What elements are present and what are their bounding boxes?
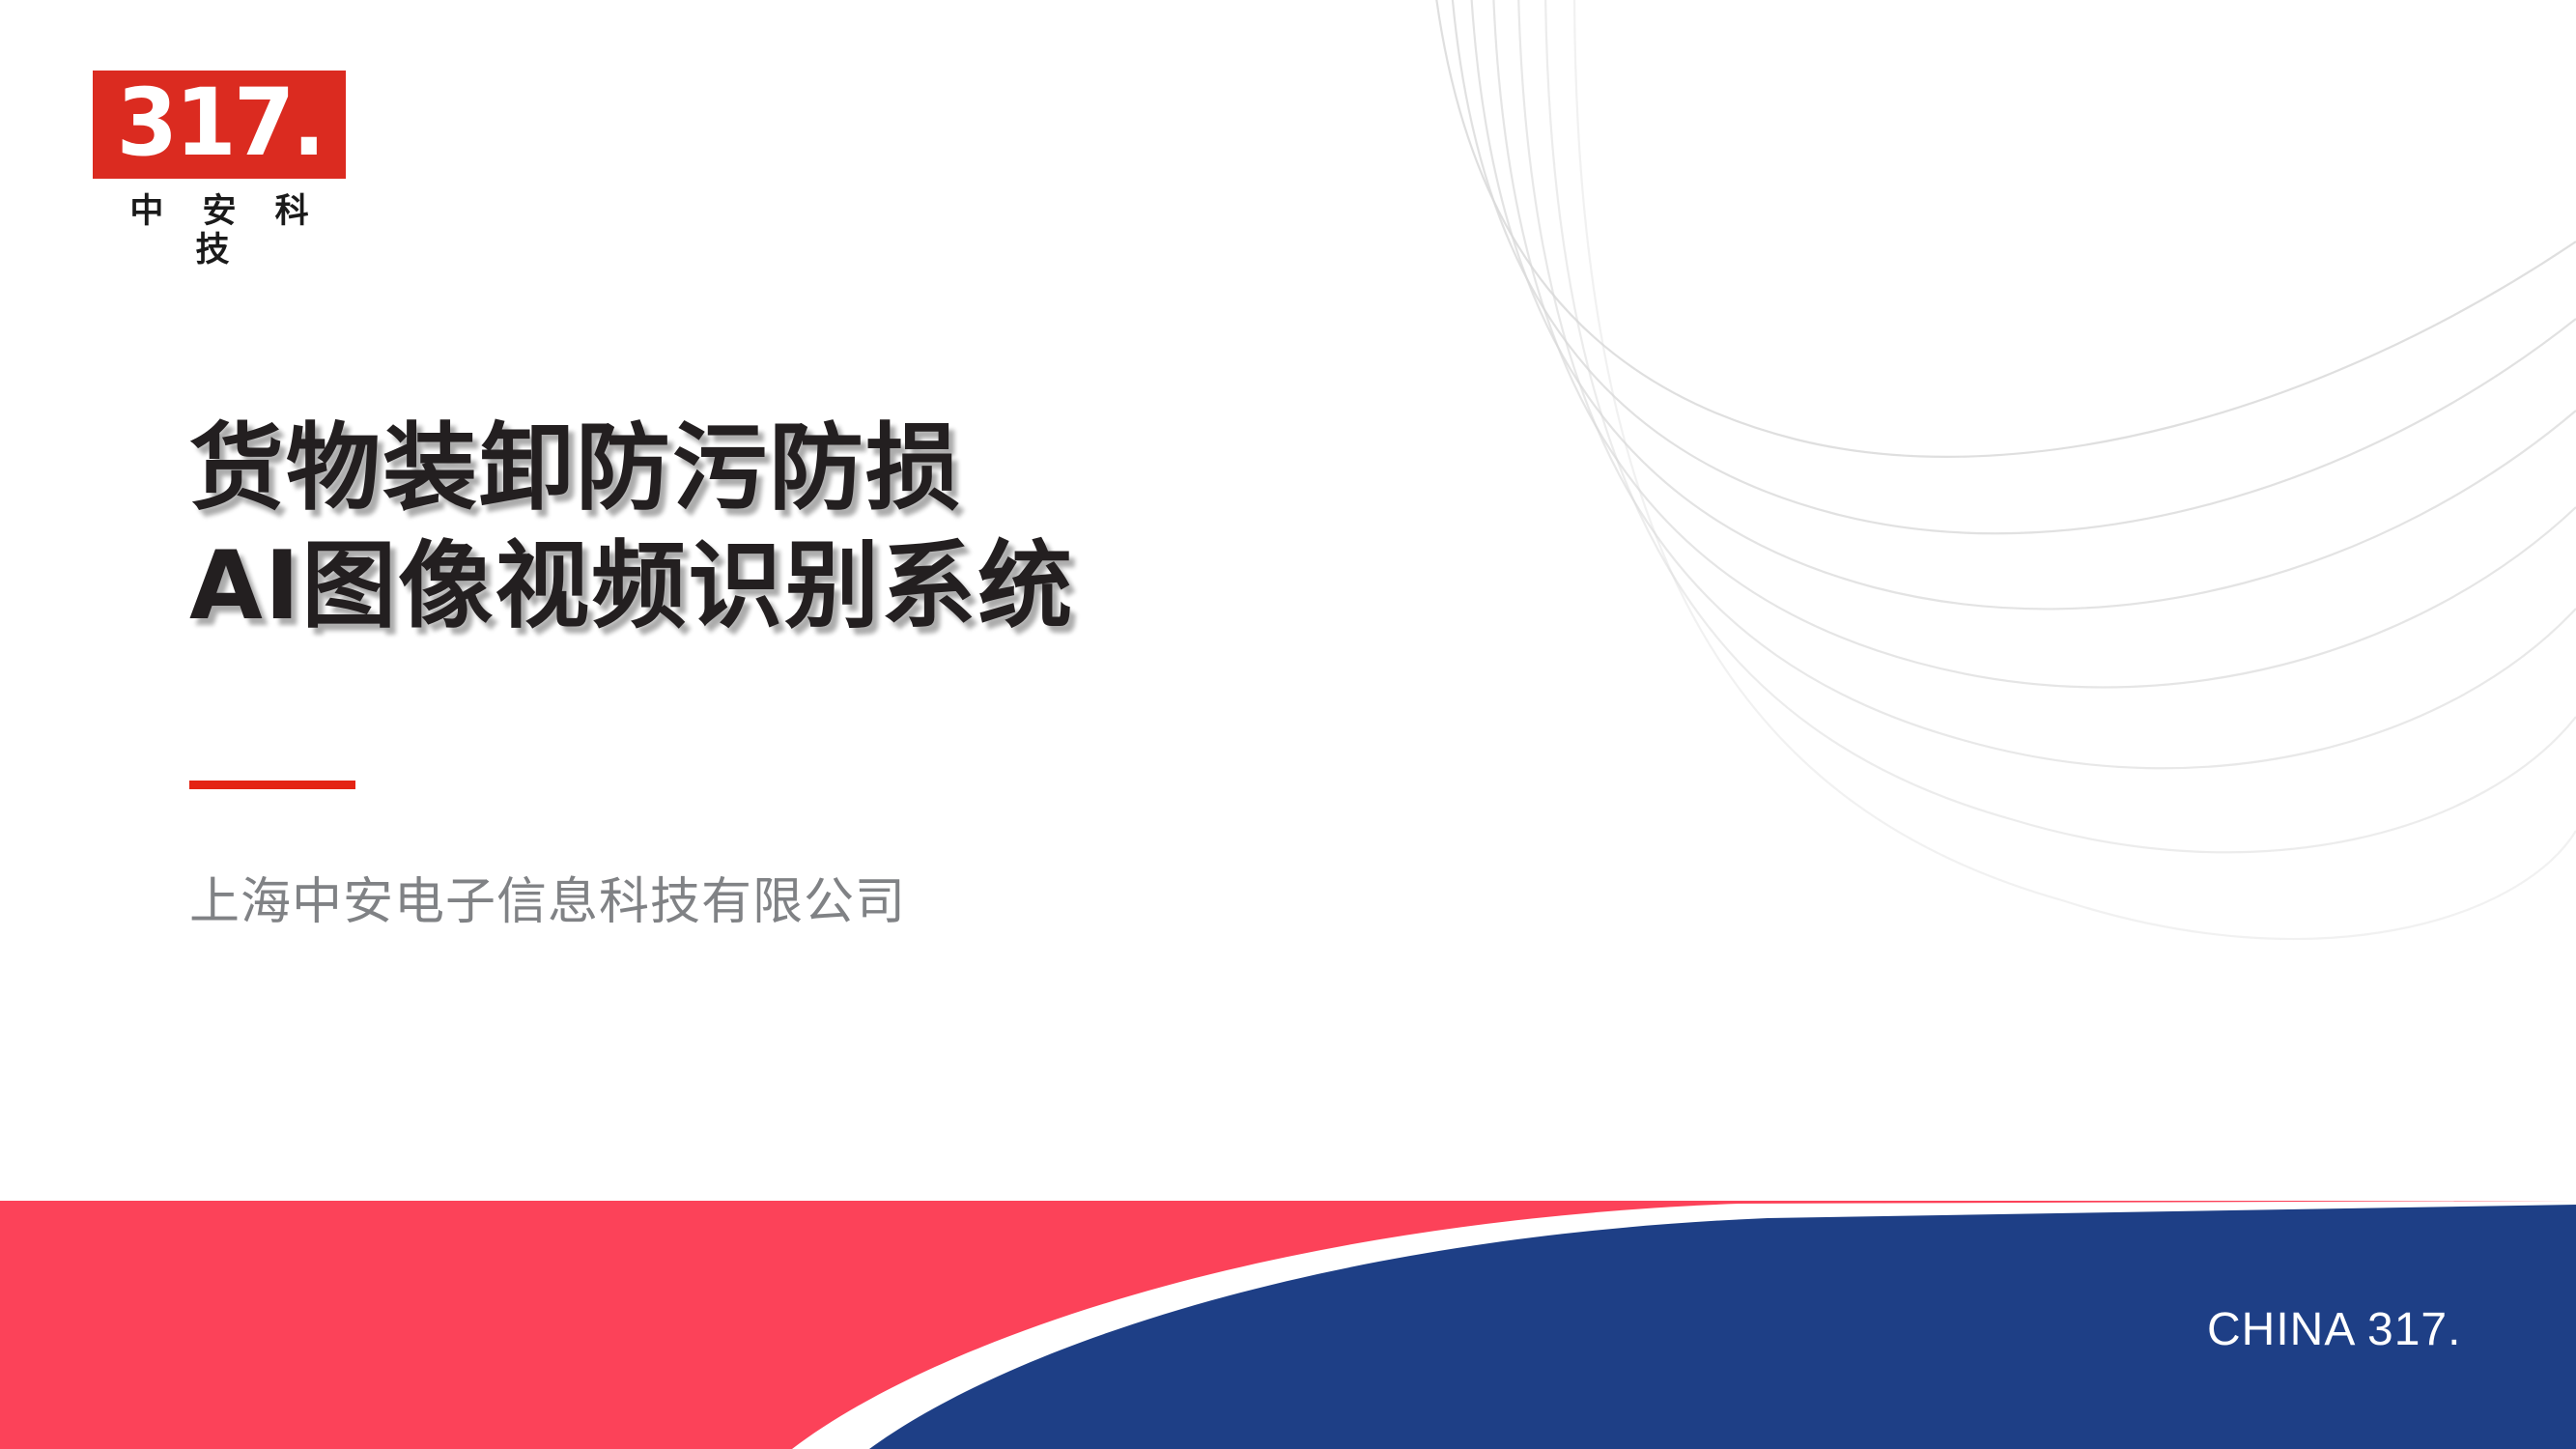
headline-block: 货物装卸防污防损 AI图像视频识别系统	[189, 410, 1638, 645]
bottom-banner	[0, 1201, 2576, 1449]
red-divider-rule	[189, 781, 355, 789]
logo-mark: 317.	[93, 71, 346, 179]
company-subtitle: 上海中安电子信息科技有限公司	[189, 871, 906, 933]
logo-mark-text: 317.	[116, 76, 323, 173]
title-slide: 317. 中 安 科 技 货物装卸防污防损 AI图像视频识别系统 上海中安电子信…	[0, 0, 2576, 1449]
company-logo: 317. 中 安 科 技	[93, 71, 346, 270]
logo-company-short: 中 安 科 技	[93, 192, 346, 270]
title-line-2: AI图像视频识别系统	[189, 527, 1638, 645]
banner-brand-text: CHINA 317.	[2207, 1305, 2461, 1355]
banner-shapes	[0, 1201, 2576, 1449]
title-line-1: 货物装卸防污防损	[189, 410, 1638, 527]
